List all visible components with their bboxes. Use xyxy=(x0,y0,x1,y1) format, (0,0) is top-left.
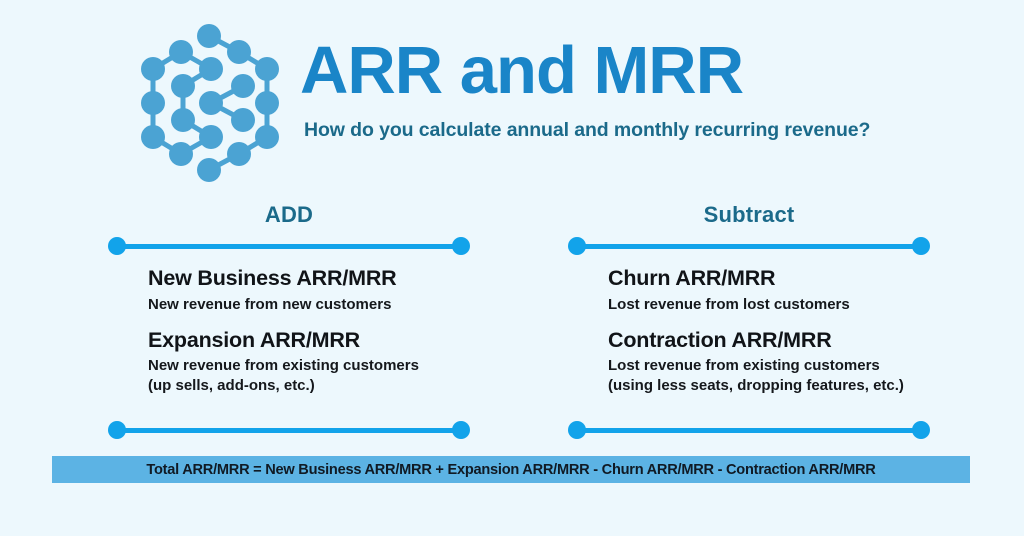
divider-rule-top-right xyxy=(568,237,930,255)
page-title: ARR and MRR xyxy=(300,36,1000,106)
rule-bar xyxy=(117,244,461,249)
divider-rule-bottom-right xyxy=(568,421,930,439)
infographic-canvas: ARR and MRR How do you calculate annual … xyxy=(0,0,1024,536)
list-item: Contraction ARR/MRR Lost revenue from ex… xyxy=(608,328,930,396)
item-desc-line2: (up sells, add-ons, etc.) xyxy=(148,376,470,396)
list-item: Expansion ARR/MRR New revenue from exist… xyxy=(148,328,470,396)
list-item: New Business ARR/MRR New revenue from ne… xyxy=(148,266,470,315)
rule-dot-end-icon xyxy=(452,421,470,439)
item-title: Churn ARR/MRR xyxy=(608,266,930,291)
rule-bar xyxy=(577,428,921,433)
items-subtract: Churn ARR/MRR Lost revenue from lost cus… xyxy=(568,266,930,414)
formula-bar: Total ARR/MRR = New Business ARR/MRR + E… xyxy=(52,456,970,483)
rule-bar xyxy=(577,244,921,249)
title-block: ARR and MRR How do you calculate annual … xyxy=(300,36,1000,142)
column-heading-add: ADD xyxy=(108,200,470,230)
divider-rule-top-left xyxy=(108,237,470,255)
item-desc-line1: Lost revenue from lost customers xyxy=(608,295,930,315)
columns-section: ADD New Business ARR/MRR New revenue fro… xyxy=(0,200,1024,440)
rule-dot-end-icon xyxy=(912,237,930,255)
column-heading-subtract: Subtract xyxy=(568,200,930,230)
item-desc-line1: New revenue from new customers xyxy=(148,295,470,315)
column-add: ADD New Business ARR/MRR New revenue fro… xyxy=(108,200,470,439)
item-title: New Business ARR/MRR xyxy=(148,266,470,291)
divider-rule-bottom-left xyxy=(108,421,470,439)
item-desc-line1: Lost revenue from existing customers xyxy=(608,356,930,376)
header: ARR and MRR How do you calculate annual … xyxy=(0,0,1024,196)
item-desc-line1: New revenue from existing customers xyxy=(148,356,470,376)
list-item: Churn ARR/MRR Lost revenue from lost cus… xyxy=(608,266,930,315)
column-subtract: Subtract Churn ARR/MRR Lost revenue from… xyxy=(568,200,930,439)
item-title: Contraction ARR/MRR xyxy=(608,328,930,353)
rule-bar xyxy=(117,428,461,433)
page-subtitle: How do you calculate annual and monthly … xyxy=(304,119,1000,142)
item-desc-line2: (using less seats, dropping features, et… xyxy=(608,376,930,396)
items-add: New Business ARR/MRR New revenue from ne… xyxy=(108,266,470,414)
rule-dot-end-icon xyxy=(452,237,470,255)
rule-dot-end-icon xyxy=(912,421,930,439)
formula-text: Total ARR/MRR = New Business ARR/MRR + E… xyxy=(146,462,875,478)
network-nodes-logo xyxy=(131,24,289,182)
item-title: Expansion ARR/MRR xyxy=(148,328,470,353)
